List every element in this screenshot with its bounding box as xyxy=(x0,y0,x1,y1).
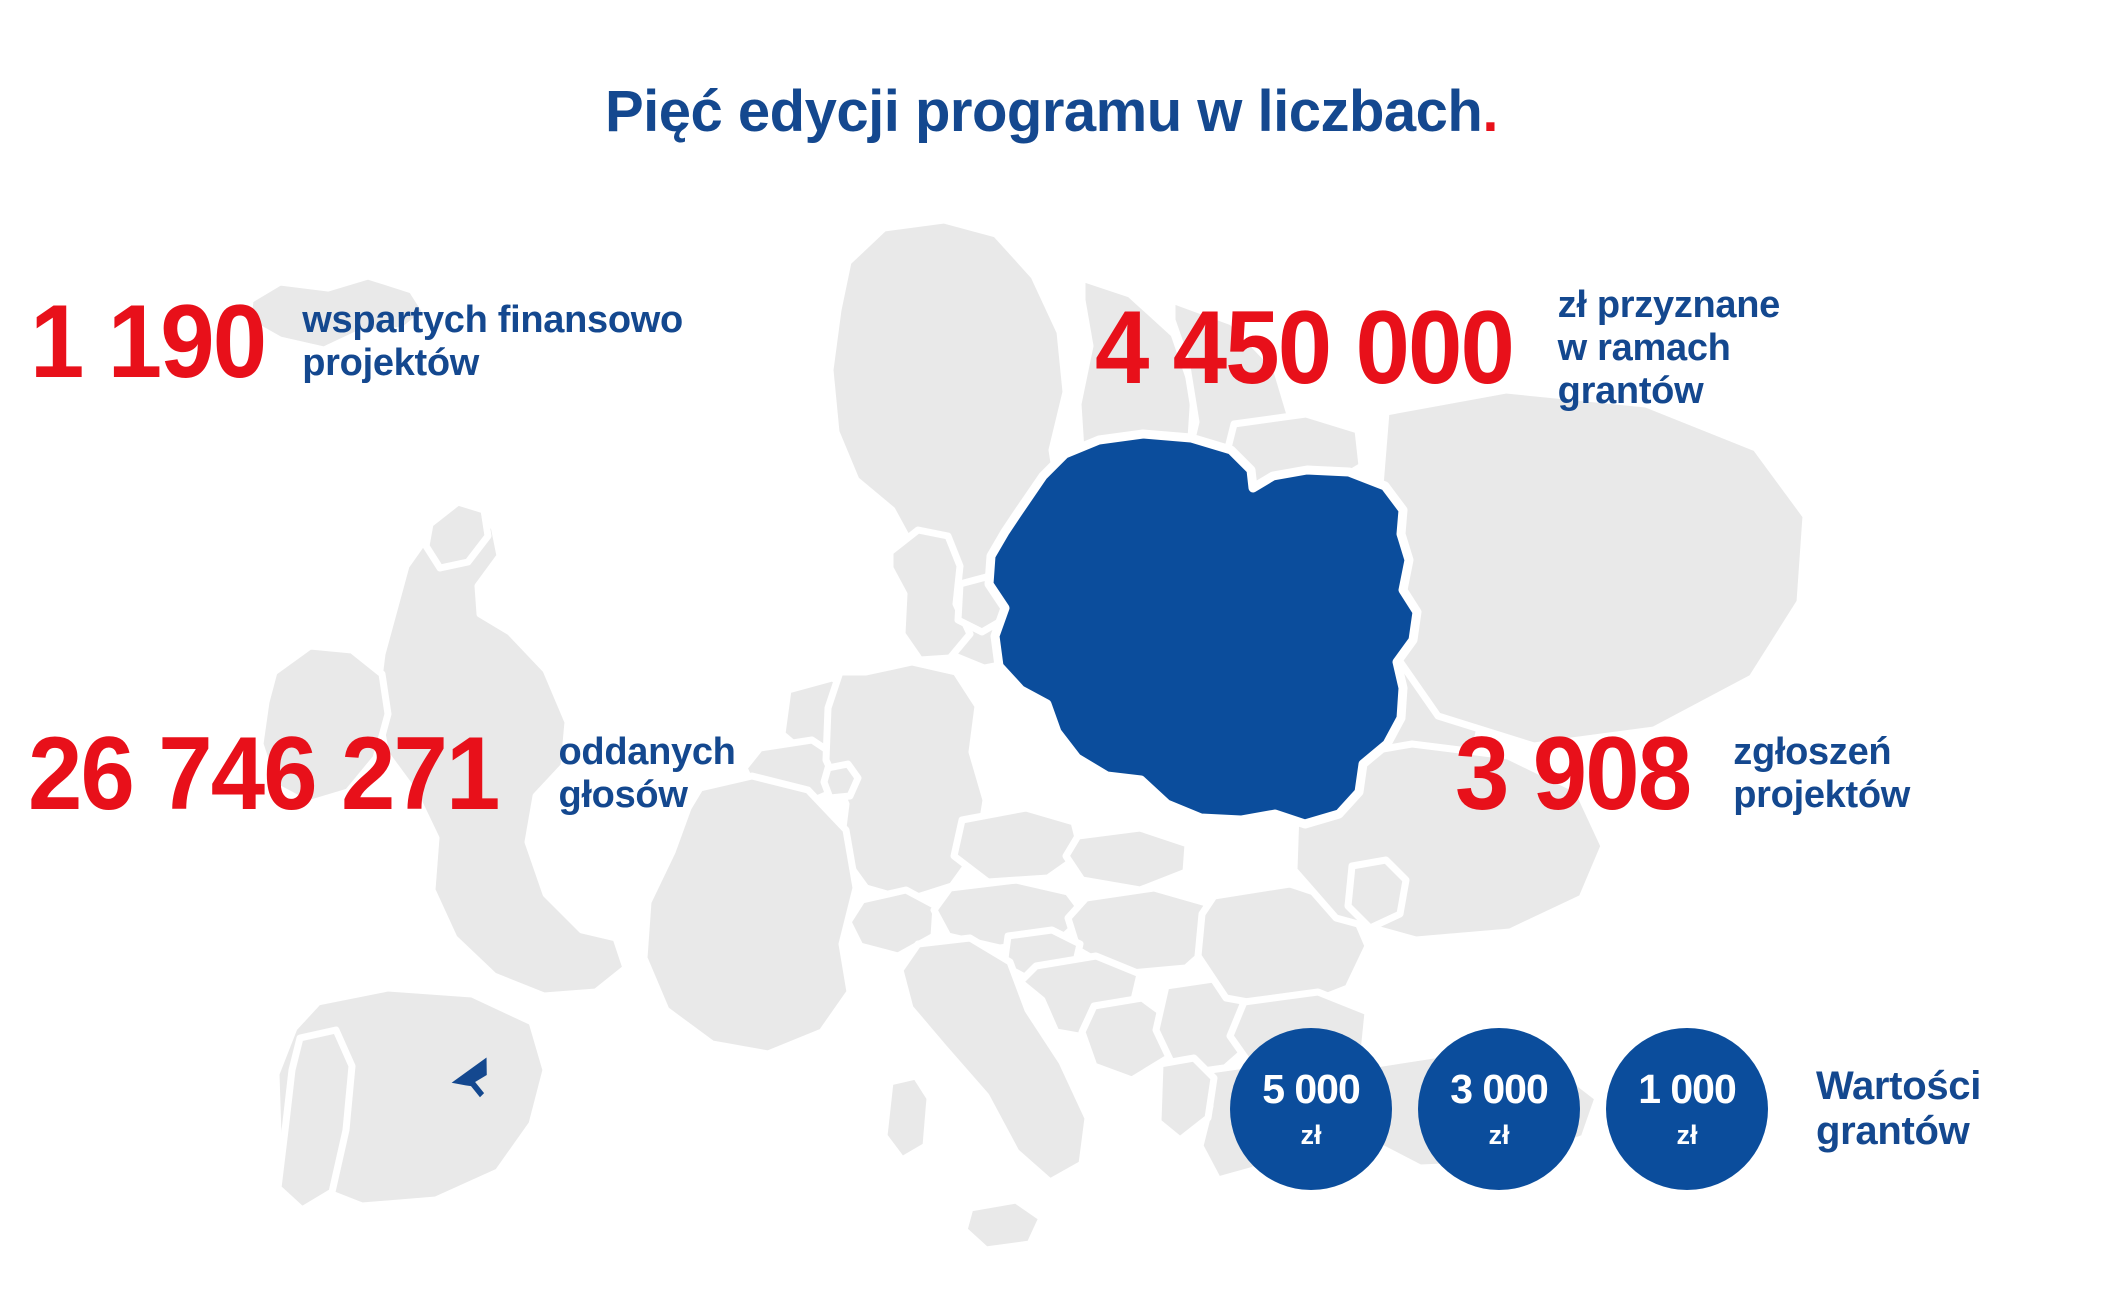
stat-supported-projects-label: wspartych finansowo projektów xyxy=(302,299,683,385)
map-country-luxembourg xyxy=(824,764,858,798)
grant-circle-1000-currency: zł xyxy=(1676,1122,1697,1149)
stat-granted-amount-label: zł przyznane w ramach grantów xyxy=(1558,284,1780,413)
stat-supported-projects-number: 1 190 xyxy=(30,290,265,394)
map-country-sardinia xyxy=(884,1076,930,1160)
map-country-czechia xyxy=(954,808,1082,882)
map-country-sicily xyxy=(964,1200,1042,1250)
map-country-poland-highlighted xyxy=(989,434,1417,824)
stat-votes-cast-label: oddanych głosów xyxy=(559,731,736,817)
page-title: Pięć edycji programu w liczbach. xyxy=(0,78,2103,145)
grant-circle-3000-currency: zł xyxy=(1488,1122,1509,1149)
grant-circle-5000: 5 000 zł xyxy=(1230,1028,1392,1190)
infographic-root: Pięć edycji programu w liczbach. 1 190 w… xyxy=(0,0,2103,1300)
map-country-moldova xyxy=(1348,860,1406,928)
stat-submitted-projects: 3 908 zgłoszeń projektów xyxy=(1455,722,1910,826)
stat-supported-projects: 1 190 wspartych finansowo projektów xyxy=(30,290,683,394)
grant-circle-5000-currency: zł xyxy=(1300,1122,1321,1149)
stat-votes-cast-number: 26 746 271 xyxy=(28,722,498,826)
grant-circle-1000: 1 000 zł xyxy=(1606,1028,1768,1190)
grant-values-label: Wartości grantów xyxy=(1816,1064,1981,1154)
map-country-russia-west xyxy=(1380,390,1806,746)
stat-submitted-projects-number: 3 908 xyxy=(1455,722,1690,826)
page-title-period: . xyxy=(1482,79,1498,144)
stat-granted-amount: 4 450 000 zł przyznane w ramach grantów xyxy=(1095,284,1780,413)
grant-circle-3000-amount: 3 000 xyxy=(1450,1069,1548,1110)
stat-granted-amount-number: 4 450 000 xyxy=(1095,296,1513,400)
grant-values-group: 5 000 zł 3 000 zł 1 000 zł Wartości gran… xyxy=(1230,1028,1981,1190)
mouse-pointer-icon xyxy=(448,1056,494,1114)
grant-circle-5000-amount: 5 000 xyxy=(1262,1069,1360,1110)
stat-submitted-projects-label: zgłoszeń projektów xyxy=(1733,731,1910,817)
grant-circle-3000: 3 000 zł xyxy=(1418,1028,1580,1190)
map-country-slovakia xyxy=(1066,828,1188,890)
grant-circle-1000-amount: 1 000 xyxy=(1638,1069,1736,1110)
stat-votes-cast: 26 746 271 oddanych głosów xyxy=(28,722,736,826)
page-title-text: Pięć edycji programu w liczbach xyxy=(605,79,1482,144)
